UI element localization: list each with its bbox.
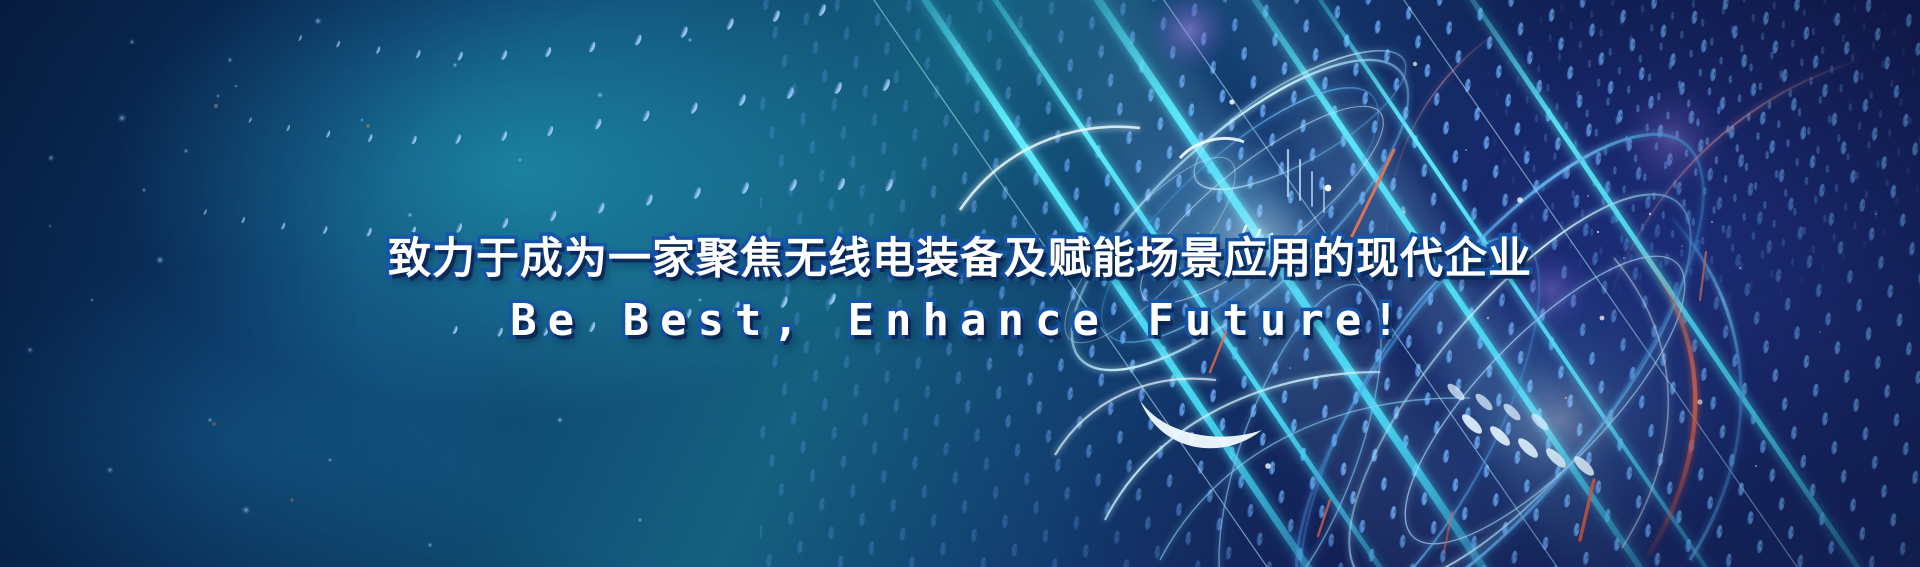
headline-english: Be Best, Enhance Future! [0,299,1920,343]
hero-banner: 致力于成为一家聚焦无线电装备及赋能场景应用的现代企业 Be Best, Enha… [0,0,1920,567]
headline-chinese: 致力于成为一家聚焦无线电装备及赋能场景应用的现代企业 [0,238,1920,281]
headline-block: 致力于成为一家聚焦无线电装备及赋能场景应用的现代企业 Be Best, Enha… [0,238,1920,343]
